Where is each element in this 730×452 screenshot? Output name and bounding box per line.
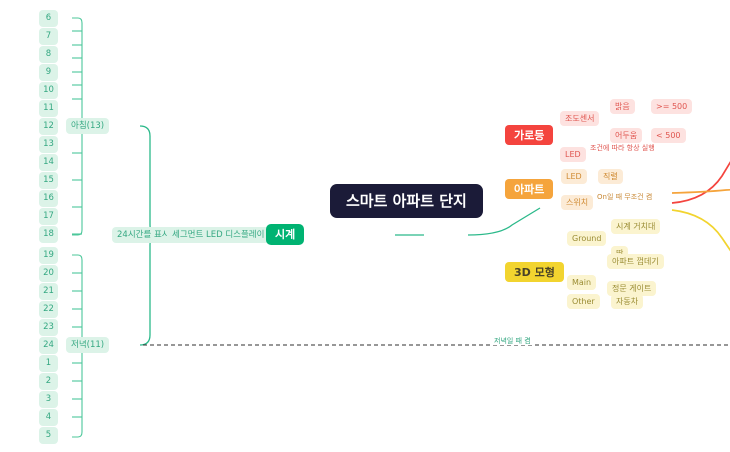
streetlight-note: 조건에 따라 항상 실행 xyxy=(590,145,655,152)
model-group-other[interactable]: Other xyxy=(567,294,600,309)
streetlight-led-node[interactable]: LED xyxy=(560,147,586,162)
hour-chip[interactable]: 13 xyxy=(39,136,58,153)
hour-chip[interactable]: 8 xyxy=(39,46,58,63)
model-item[interactable]: 아파트 껍데기 xyxy=(607,254,664,269)
hour-chip[interactable]: 5 xyxy=(39,427,58,444)
hour-chip[interactable]: 19 xyxy=(39,247,58,264)
hour-chip[interactable]: 10 xyxy=(39,82,58,99)
model-main-node[interactable]: 3D 모형 xyxy=(505,262,564,282)
hour-chip[interactable]: 17 xyxy=(39,208,58,225)
hour-chip[interactable]: 16 xyxy=(39,190,58,207)
hour-chip[interactable]: 22 xyxy=(39,301,58,318)
hour-chip[interactable]: 9 xyxy=(39,64,58,81)
dashed-link-label: 저녁일 때 켬 xyxy=(492,338,533,345)
hour-chip[interactable]: 2 xyxy=(39,373,58,390)
streetlight-dark-value[interactable]: < 500 xyxy=(651,128,686,143)
streetlight-sensor-node[interactable]: 조도센서 xyxy=(560,111,599,126)
streetlight-dark-node[interactable]: 어두움 xyxy=(610,128,642,143)
streetlight-bright-value[interactable]: >= 500 xyxy=(651,99,692,114)
hour-chip[interactable]: 15 xyxy=(39,172,58,189)
clock-main-node[interactable]: 시계 xyxy=(266,224,304,245)
hour-chip[interactable]: 23 xyxy=(39,319,58,336)
apartment-led-node[interactable]: LED xyxy=(561,169,587,184)
clock-display-node[interactable]: 세그먼트 LED 디스플레이 xyxy=(167,227,269,243)
apartment-main-node[interactable]: 아파트 xyxy=(505,179,553,199)
hour-chip[interactable]: 18 xyxy=(39,226,58,243)
model-item[interactable]: 시계 거치대 xyxy=(611,219,660,234)
clock-format-node[interactable]: 24시간를 표시 xyxy=(112,227,175,243)
hour-chip[interactable]: 1 xyxy=(39,355,58,372)
hour-chip[interactable]: 3 xyxy=(39,391,58,408)
hour-chip[interactable]: 4 xyxy=(39,409,58,426)
hour-chip[interactable]: 12 xyxy=(39,118,58,135)
hour-chip[interactable]: 6 xyxy=(39,10,58,27)
hour-chip[interactable]: 14 xyxy=(39,154,58,171)
hour-chip[interactable]: 20 xyxy=(39,265,58,282)
wire-root-streetlight xyxy=(672,138,730,203)
wire-root-apartment xyxy=(672,189,730,193)
hour-chip[interactable]: 21 xyxy=(39,283,58,300)
apartment-switch-node[interactable]: 스위치 xyxy=(561,195,593,210)
model-item[interactable]: 자동차 xyxy=(611,294,643,309)
model-group-ground[interactable]: Ground xyxy=(567,231,606,246)
root-node[interactable]: 스마트 아파트 단지 xyxy=(330,184,483,218)
streetlight-bright-node[interactable]: 밝음 xyxy=(610,99,635,114)
hour-chip[interactable]: 11 xyxy=(39,100,58,117)
apartment-note: On일 때 무조건 켬 xyxy=(597,194,652,201)
hour-chip[interactable]: 24 xyxy=(39,337,58,354)
streetlight-main-node[interactable]: 가로등 xyxy=(505,125,553,145)
mindmap-canvas: 6 7 8 9 10 11 12 13 14 15 16 17 18 19 20… xyxy=(0,0,730,452)
wire-root-model xyxy=(672,210,730,272)
time-group-evening[interactable]: 저녁(11) xyxy=(66,337,109,353)
hour-chip[interactable]: 7 xyxy=(39,28,58,45)
apartment-series-node[interactable]: 직렬 xyxy=(598,169,623,184)
model-group-main[interactable]: Main xyxy=(567,275,596,290)
time-group-morning[interactable]: 아침(13) xyxy=(66,118,109,134)
group-label-stubs xyxy=(82,126,98,345)
